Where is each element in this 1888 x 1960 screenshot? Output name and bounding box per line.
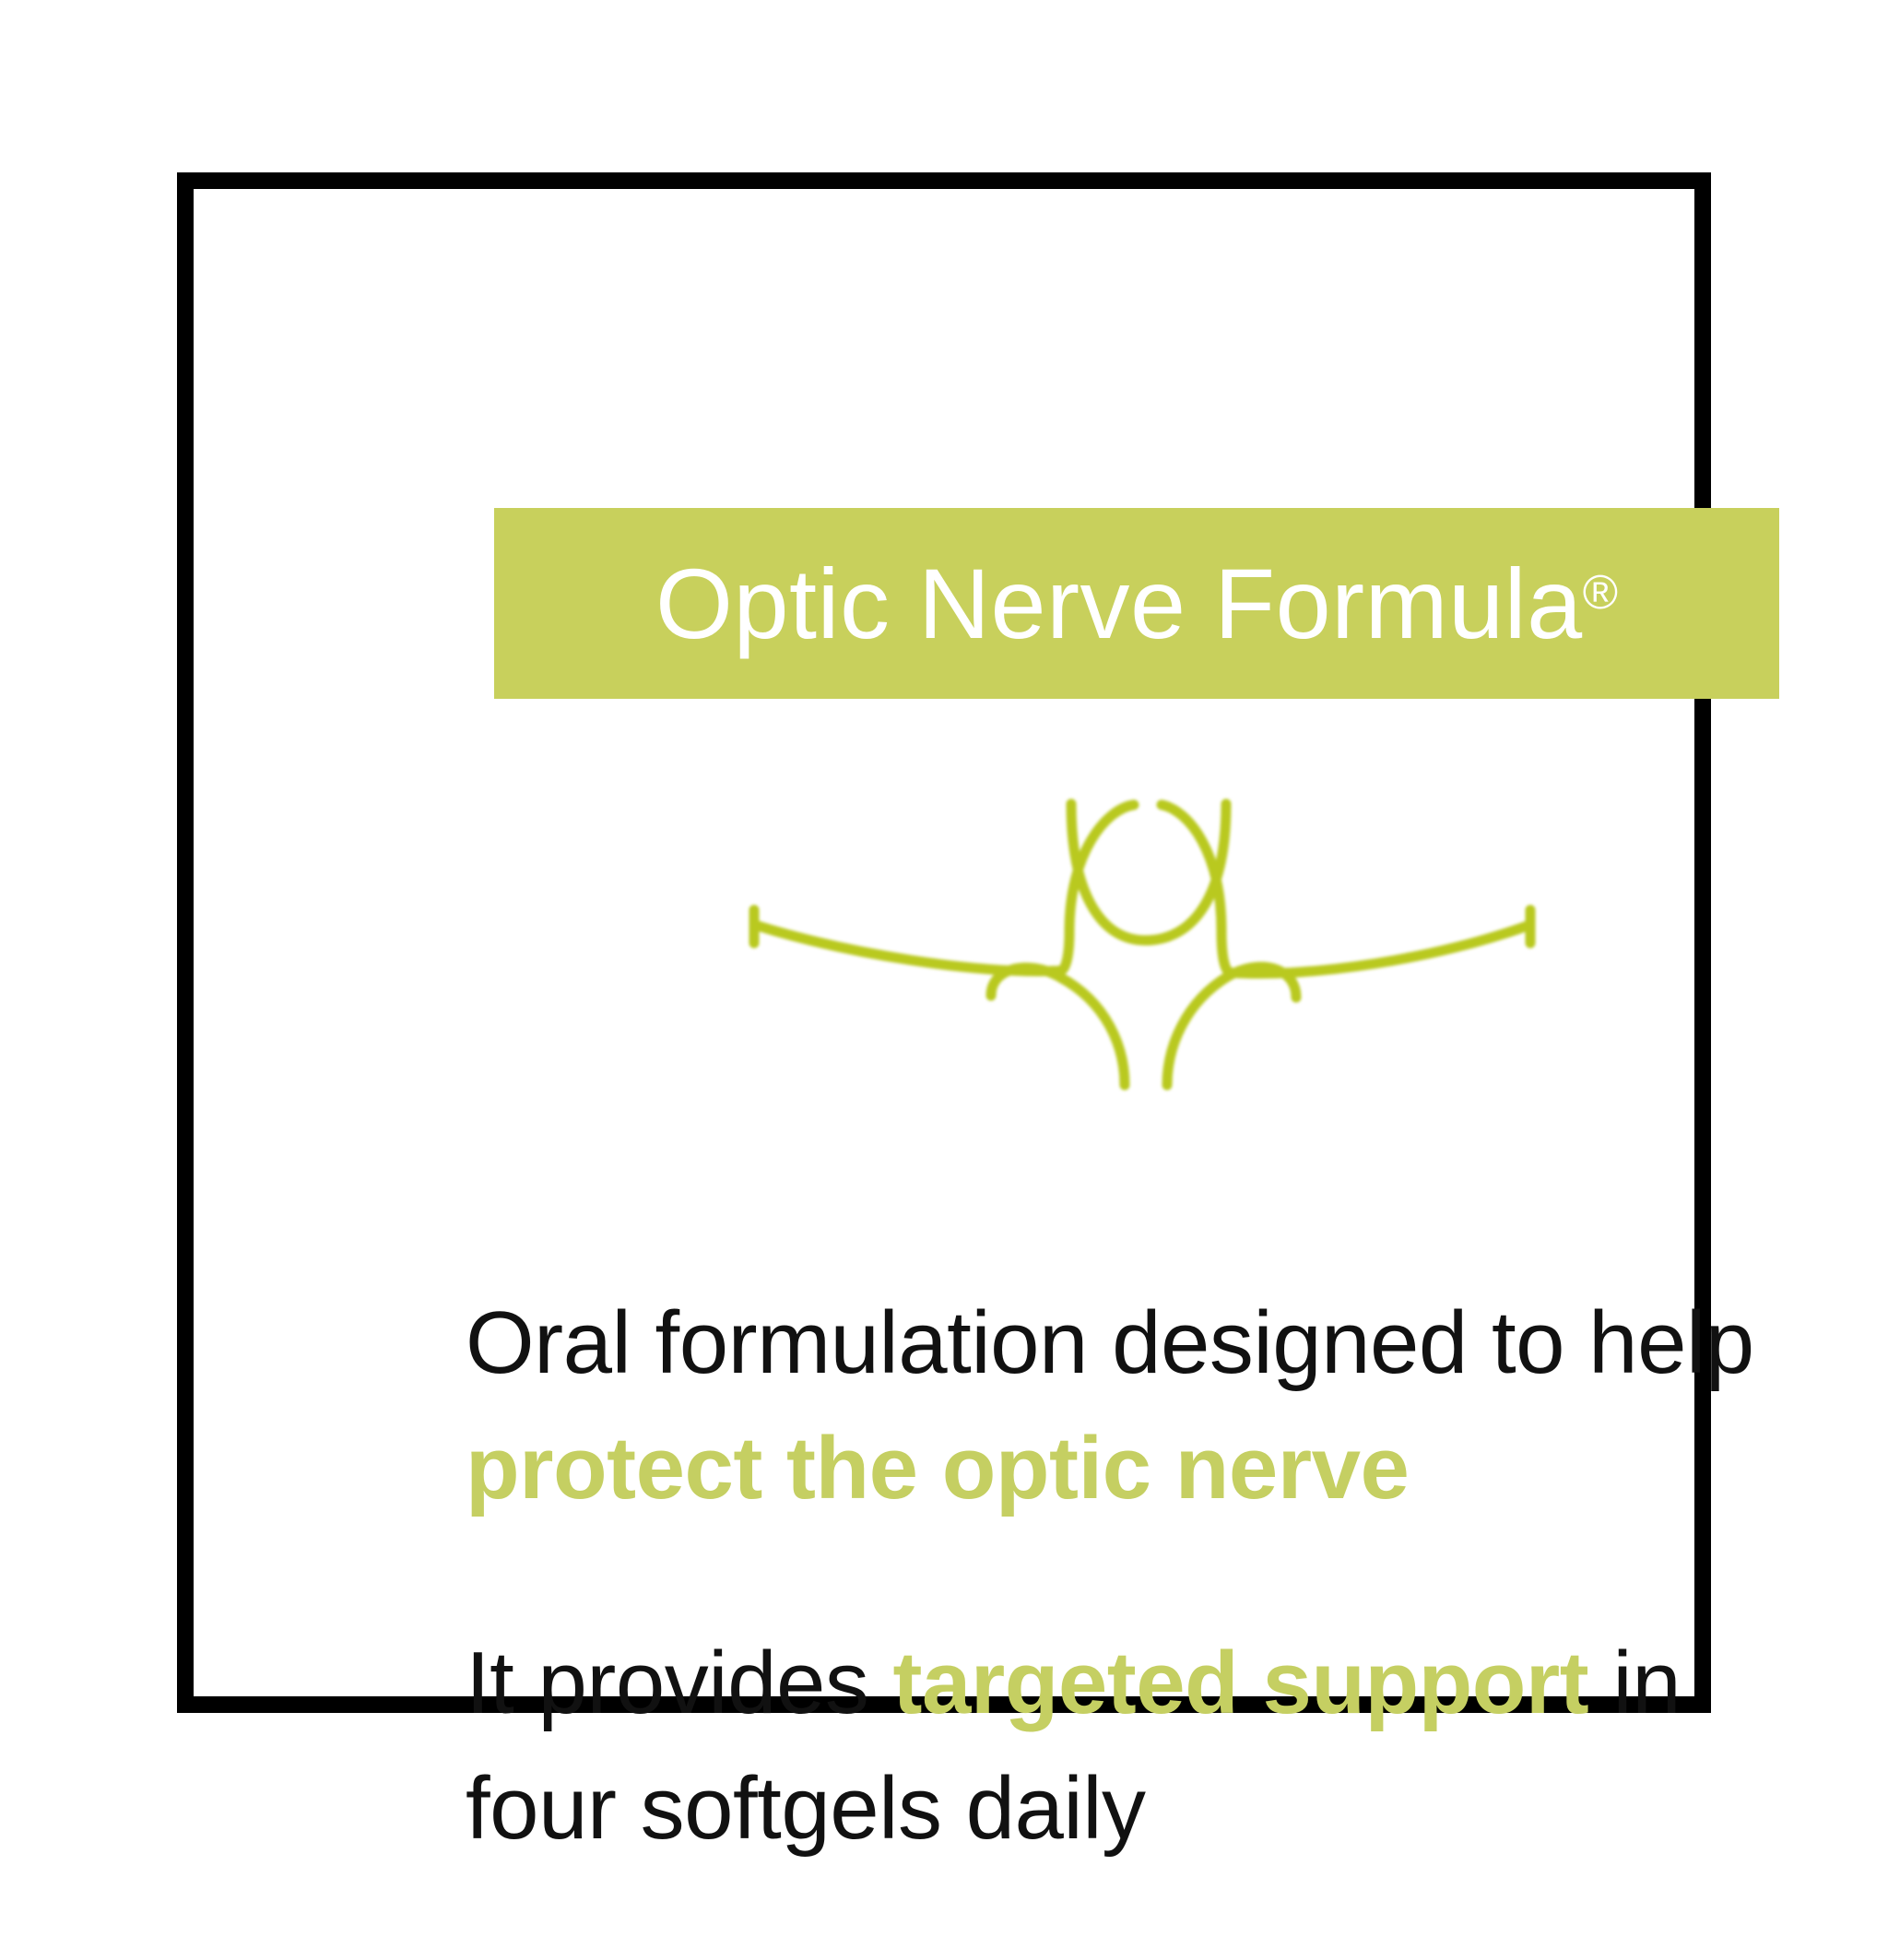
neuron-icon — [673, 742, 1604, 1129]
dendrite-lower-left-inner — [1060, 977, 1125, 1085]
dendrite-lower-left-outer — [991, 968, 1060, 996]
paragraph-2-highlight: targeted support — [893, 1634, 1589, 1732]
slide-canvas: Optic Nerve Formula® — [0, 0, 1888, 1888]
paragraph-1-highlight: protect the optic nerve — [466, 1419, 1409, 1517]
dendrite-upper-right-inner — [1162, 805, 1221, 931]
dendrite-lower-right-outer — [1228, 967, 1296, 998]
neuron-illustration — [673, 742, 1604, 1129]
body-copy: Oral formulation designed to help protec… — [466, 1192, 1821, 1960]
dendrite-lower-right-inner — [1167, 976, 1228, 1085]
paragraph-2: It provides targeted support in four sof… — [466, 1621, 1821, 1872]
product-title-banner: Optic Nerve Formula® — [494, 508, 1779, 699]
bordered-card-frame: Optic Nerve Formula® — [177, 172, 1711, 1713]
soma-right-join — [1221, 931, 1231, 973]
paragraph-2-lead: It provides — [466, 1634, 893, 1732]
product-title-text: Optic Nerve Formula — [655, 548, 1583, 659]
soma-left-join — [1060, 931, 1069, 971]
registered-trademark-icon: ® — [1583, 566, 1618, 620]
paragraph-1-lead: Oral formulation designed to help — [466, 1293, 1754, 1392]
paragraph-1: Oral formulation designed to help protec… — [466, 1281, 1821, 1532]
page-title: Optic Nerve Formula® — [655, 554, 1618, 654]
